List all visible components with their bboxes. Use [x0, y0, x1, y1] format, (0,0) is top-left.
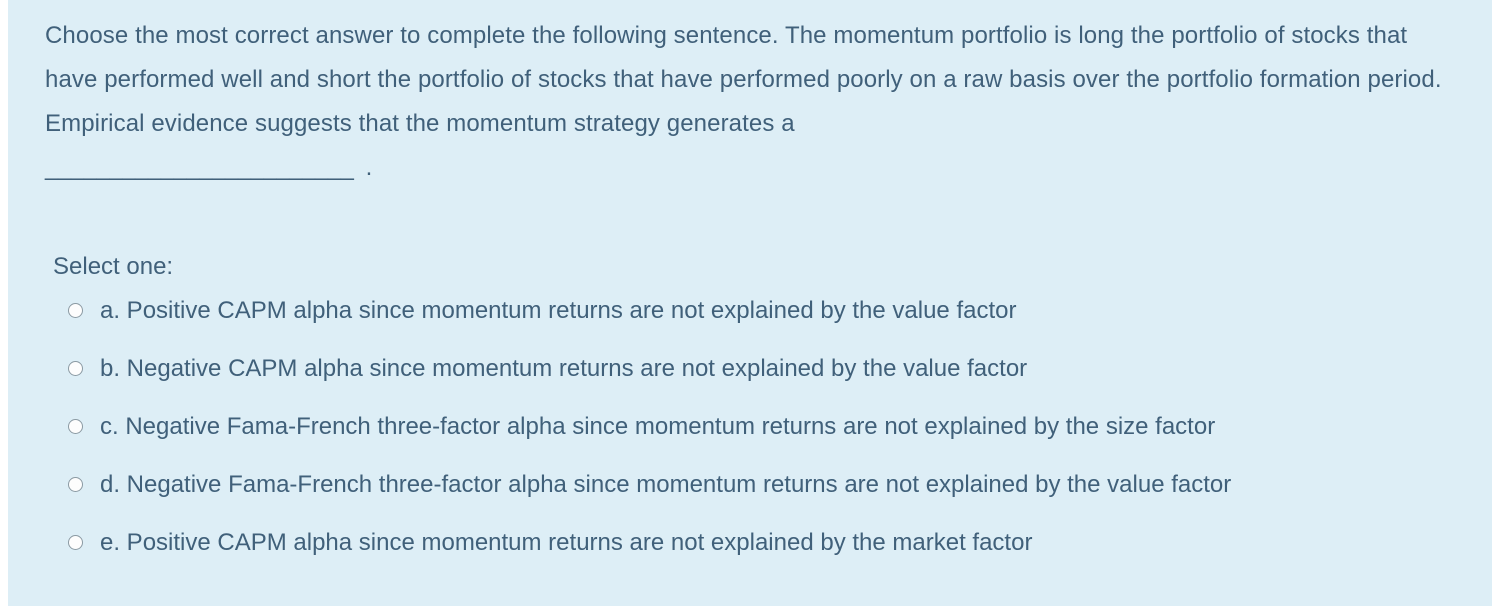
- option-label-d: d. Negative Fama-French three-factor alp…: [100, 470, 1473, 500]
- screenshot-root: Choose the most correct answer to comple…: [0, 0, 1500, 614]
- radio-button-c[interactable]: [68, 419, 83, 434]
- question-body: Choose the most correct answer to comple…: [45, 14, 1465, 190]
- option-label-c: c. Negative Fama-French three-factor alp…: [100, 412, 1473, 442]
- option-label-b: b. Negative CAPM alpha since momentum re…: [100, 354, 1473, 384]
- option-row-e[interactable]: e. Positive CAPM alpha since momentum re…: [53, 528, 1473, 586]
- option-row-b[interactable]: b. Negative CAPM alpha since momentum re…: [53, 354, 1473, 412]
- answer-options-list: a. Positive CAPM alpha since momentum re…: [53, 296, 1473, 586]
- option-row-c[interactable]: c. Negative Fama-French three-factor alp…: [53, 412, 1473, 470]
- radio-button-e[interactable]: [68, 535, 83, 550]
- option-label-a: a. Positive CAPM alpha since momentum re…: [100, 296, 1473, 326]
- option-row-a[interactable]: a. Positive CAPM alpha since momentum re…: [53, 296, 1473, 354]
- question-prompt: Choose the most correct answer to comple…: [45, 14, 1445, 146]
- option-row-d[interactable]: d. Negative Fama-French three-factor alp…: [53, 470, 1473, 528]
- radio-button-d[interactable]: [68, 477, 83, 492]
- question-blank: ________________________ .: [45, 146, 1465, 190]
- radio-button-b[interactable]: [68, 361, 83, 376]
- option-label-e: e. Positive CAPM alpha since momentum re…: [100, 528, 1473, 558]
- select-one-label: Select one:: [53, 252, 173, 282]
- radio-button-a[interactable]: [68, 303, 83, 318]
- question-panel: Choose the most correct answer to comple…: [8, 0, 1492, 606]
